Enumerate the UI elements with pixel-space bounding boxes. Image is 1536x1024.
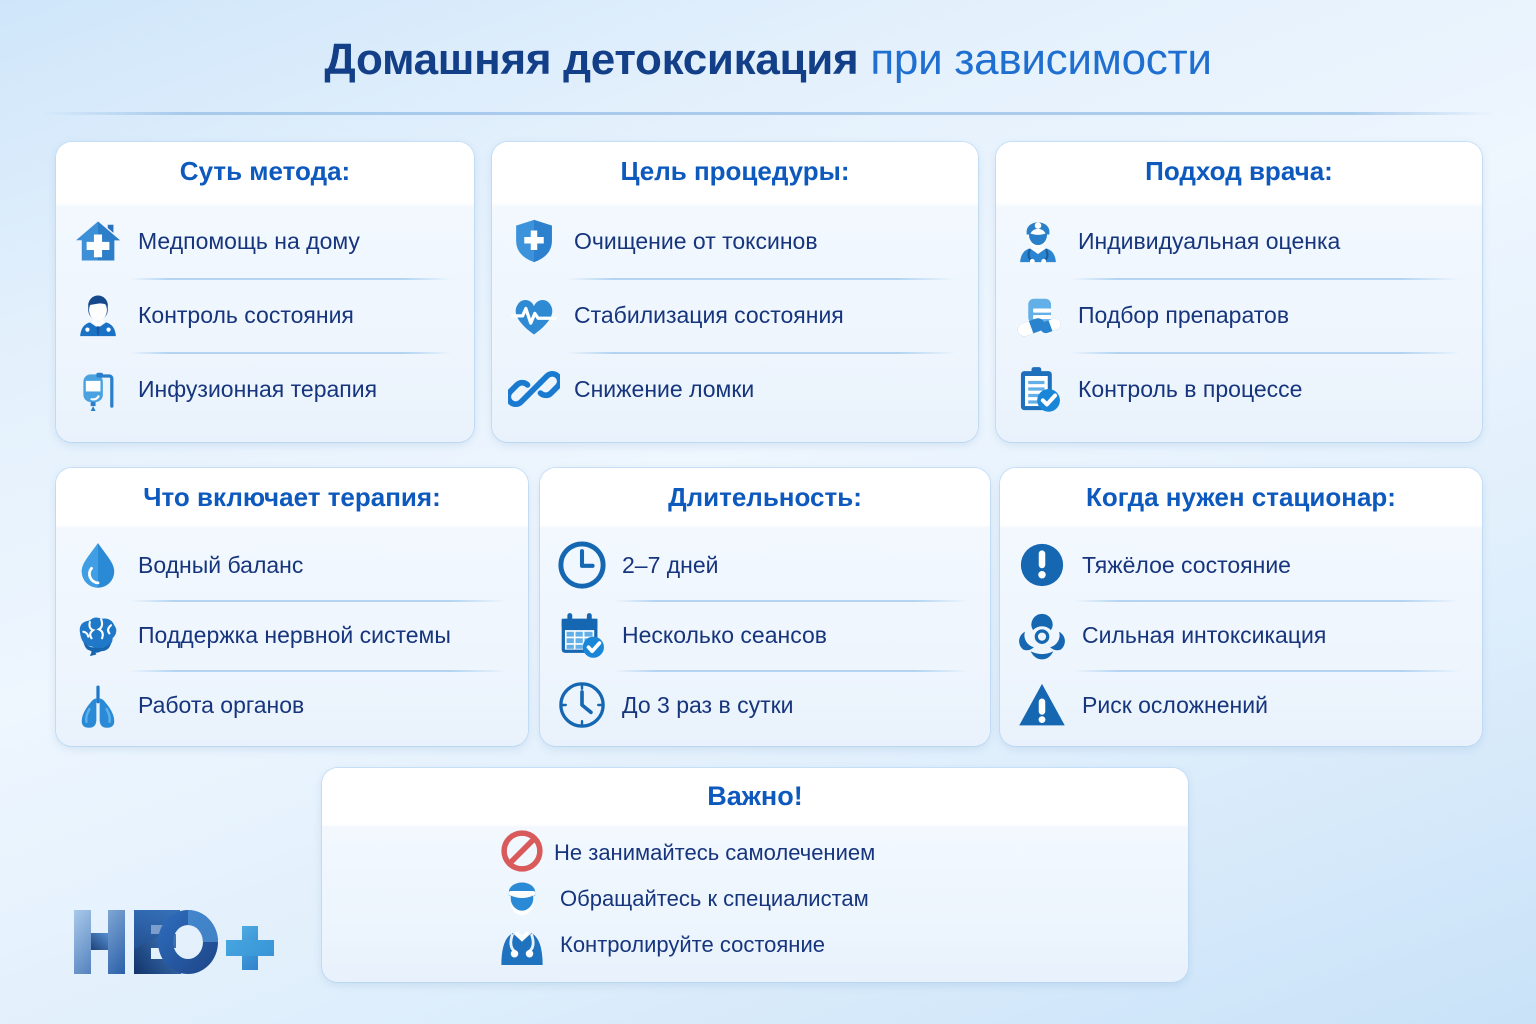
exclamation-circle-icon bbox=[1016, 539, 1068, 591]
important-item-label: Контролируйте состояние bbox=[560, 933, 825, 957]
list-item: 2–7 дней bbox=[556, 530, 974, 600]
list-item: Индивидуальная оценка bbox=[1012, 204, 1466, 278]
title-divider bbox=[40, 112, 1496, 115]
pills-icon bbox=[1012, 289, 1064, 341]
shield-cross-icon bbox=[508, 215, 560, 267]
heart-pulse-icon bbox=[508, 289, 560, 341]
card-header: Что включает терапия: bbox=[56, 468, 528, 526]
card-kogda-nuzhen-stacionar: Когда нужен стационар: Тяжёлое состояние bbox=[1000, 468, 1482, 746]
iv-drip-icon bbox=[72, 363, 124, 415]
title-light: при зависимости bbox=[870, 35, 1211, 84]
important-list-item: Обращайтесь к специалистам bbox=[322, 876, 1188, 922]
title-strong: Домашняя детоксикация bbox=[324, 35, 858, 84]
list-item: Тяжёлое состояние bbox=[1016, 530, 1466, 600]
list-item: Поддержка нервной системы bbox=[72, 600, 512, 670]
physician-icon bbox=[1012, 215, 1064, 267]
list-item-label: Очищение от токсинов bbox=[574, 228, 818, 254]
list-item: Очищение от токсинов bbox=[508, 204, 962, 278]
list-item-label: Медпомощь на дому bbox=[138, 228, 360, 254]
card-header: Цель процедуры: bbox=[492, 142, 978, 200]
brain-icon bbox=[72, 609, 124, 661]
neo-plus-logo bbox=[70, 900, 285, 986]
list-item-label: Контроль состояния bbox=[138, 302, 354, 328]
list-item-label: Поддержка нервной системы bbox=[138, 622, 451, 648]
list-item: Риск осложнений bbox=[1016, 670, 1466, 740]
list-item-label: Водный баланс bbox=[138, 552, 303, 578]
list-item-label: 2–7 дней bbox=[622, 552, 719, 578]
list-item-label: До 3 раз в сутки bbox=[622, 692, 794, 718]
card-header: Суть метода: bbox=[56, 142, 474, 200]
card-header: Важно! bbox=[322, 768, 1188, 824]
list-item: Несколько сеансов bbox=[556, 600, 974, 670]
list-item: Снижение ломки bbox=[508, 352, 962, 426]
important-list-item: Не занимайтесь самолечением bbox=[322, 830, 1188, 876]
list-item-label: Индивидуальная оценка bbox=[1078, 228, 1340, 254]
warning-triangle-icon bbox=[1016, 679, 1068, 731]
list-item: Контроль в процессе bbox=[1012, 352, 1466, 426]
card-sut-metoda: Суть метода: Медпомощь на дому bbox=[56, 142, 474, 442]
card-header: Когда нужен стационар: bbox=[1000, 468, 1482, 526]
clock-icon bbox=[556, 539, 608, 591]
infographic-page: Домашняя детоксикация при зависимости Су… bbox=[0, 0, 1536, 1024]
no-entry-icon bbox=[500, 829, 544, 873]
card-body: Медпомощь на дому Контроль состоян bbox=[56, 200, 474, 434]
lungs-icon bbox=[72, 679, 124, 731]
card-body: Водный баланс bbox=[56, 526, 528, 746]
list-item: Инфузионная терапия bbox=[72, 352, 458, 426]
list-item: Сильная интоксикация bbox=[1016, 600, 1466, 670]
list-item: Медпомощь на дому bbox=[72, 204, 458, 278]
card-body: Очищение от токсинов Стабилизация состоя… bbox=[492, 200, 978, 434]
card-dlitelnost: Длительность: 2–7 дней bbox=[540, 468, 990, 746]
list-item: Водный баланс bbox=[72, 530, 512, 600]
water-drop-icon bbox=[72, 539, 124, 591]
list-item-label: Подбор препаратов bbox=[1078, 302, 1289, 328]
home-medical-icon bbox=[72, 215, 124, 267]
list-item-label: Работа органов bbox=[138, 692, 304, 718]
card-cel-procedury: Цель процедуры: Очищение от токсинов bbox=[492, 142, 978, 442]
list-item: Работа органов bbox=[72, 670, 512, 740]
list-item: До 3 раз в сутки bbox=[556, 670, 974, 740]
list-item-label: Риск осложнений bbox=[1082, 692, 1268, 718]
chain-link-icon bbox=[508, 363, 560, 415]
clock-ticks-icon bbox=[556, 679, 608, 731]
list-item-label: Инфузионная терапия bbox=[138, 376, 377, 402]
list-item: Стабилизация состояния bbox=[508, 278, 962, 352]
list-item-label: Контроль в процессе bbox=[1078, 376, 1302, 402]
list-item-label: Снижение ломки bbox=[574, 376, 754, 402]
card-vazhno: Важно! bbox=[322, 768, 1188, 982]
important-item-label: Не занимайтесь самолечением bbox=[554, 841, 875, 865]
list-item-label: Сильная интоксикация bbox=[1082, 622, 1326, 648]
important-item-label: Обращайтесь к специалистам bbox=[560, 887, 869, 911]
card-header: Длительность: bbox=[540, 468, 990, 526]
card-chto-vklyuchaet-terapiya: Что включает терапия: Водный баланс bbox=[56, 468, 528, 746]
card-body: Индивидуальная оценка bbox=[996, 200, 1482, 434]
card-body: 2–7 дней bbox=[540, 526, 990, 746]
list-item: Контроль состояния bbox=[72, 278, 458, 352]
doctor-icon bbox=[72, 289, 124, 341]
list-item-label: Тяжёлое состояние bbox=[1082, 552, 1291, 578]
card-body: Тяжёлое состояние Сильная bbox=[1000, 526, 1482, 746]
card-header: Подход врача: bbox=[996, 142, 1482, 200]
important-list-item: Контролируйте состояние bbox=[322, 922, 1188, 968]
important-body: Не занимайтесь самолечением Обращайтесь … bbox=[322, 824, 1188, 980]
list-item: Подбор препаратов bbox=[1012, 278, 1466, 352]
list-item-label: Несколько сеансов bbox=[622, 622, 827, 648]
clipboard-check-icon bbox=[1012, 363, 1064, 415]
calendar-check-icon bbox=[556, 609, 608, 661]
doctor-figure-icon bbox=[492, 872, 552, 968]
list-item-label: Стабилизация состояния bbox=[574, 302, 844, 328]
biohazard-icon bbox=[1016, 609, 1068, 661]
page-title: Домашняя детоксикация при зависимости bbox=[0, 34, 1536, 86]
card-podhod-vracha: Подход врача: bbox=[996, 142, 1482, 442]
